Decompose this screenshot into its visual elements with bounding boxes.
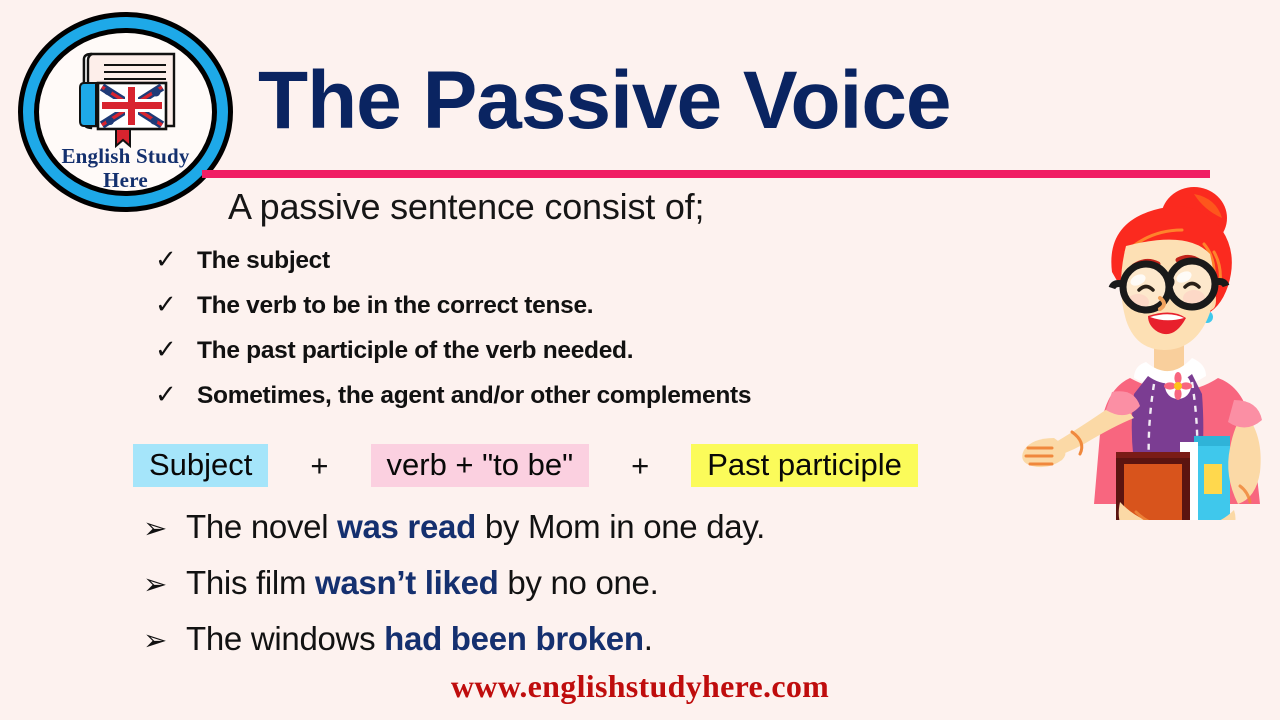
- page-title: The Passive Voice: [258, 60, 951, 142]
- plus-sign-1: +: [268, 450, 370, 481]
- formula-chip-verb-to-be: verb + "to be": [371, 444, 590, 487]
- check-icon: ✓: [155, 291, 197, 317]
- arrow-bullet-icon: ➢: [143, 515, 186, 544]
- infographic-page: English Study Here The Passive Voice A p…: [0, 0, 1280, 720]
- list-item-label: Sometimes, the agent and/or other comple…: [197, 382, 751, 410]
- list-item: ✓ Sometimes, the agent and/or other comp…: [155, 381, 1055, 426]
- check-icon: ✓: [155, 336, 197, 362]
- logo-wordmark-line1: English Study: [39, 145, 212, 169]
- list-item-label: The verb to be in the correct tense.: [197, 292, 593, 320]
- list-item: ➢ The novel was read by Mom in one day.: [143, 508, 1043, 564]
- logo-wordmark: English Study Here: [39, 145, 212, 192]
- title-underline-rule: [202, 170, 1210, 178]
- checklist: ✓ The subject ✓ The verb to be in the co…: [155, 246, 1055, 426]
- example-before: The windows: [186, 620, 384, 657]
- arrow-bullet-icon: ➢: [143, 571, 186, 600]
- list-item: ✓ The past participle of the verb needed…: [155, 336, 1055, 381]
- list-item: ➢ This film wasn’t liked by no one.: [143, 564, 1043, 620]
- examples-list: ➢ The novel was read by Mom in one day. …: [143, 508, 1043, 676]
- teacher-character-illustration: [1008, 186, 1280, 520]
- logo-wordmark-line2: Here: [39, 169, 212, 193]
- list-item: ✓ The verb to be in the correct tense.: [155, 291, 1055, 336]
- check-icon: ✓: [155, 381, 197, 407]
- example-sentence: The windows had been broken.: [186, 620, 653, 658]
- english-study-here-logo: English Study Here: [18, 12, 233, 212]
- subtitle: A passive sentence consist of;: [228, 186, 704, 228]
- formula-chip-subject: Subject: [133, 444, 268, 487]
- example-sentence: The novel was read by Mom in one day.: [186, 508, 765, 546]
- website-url: www.englishstudyhere.com: [0, 668, 1280, 705]
- list-item-label: The subject: [197, 247, 330, 275]
- example-before: The novel: [186, 508, 337, 545]
- example-verb-phrase: had been broken: [384, 620, 644, 657]
- example-after: .: [644, 620, 653, 657]
- example-after: by no one.: [498, 564, 658, 601]
- list-item: ✓ The subject: [155, 246, 1055, 291]
- list-item-label: The past participle of the verb needed.: [197, 337, 633, 365]
- example-sentence: This film wasn’t liked by no one.: [186, 564, 658, 602]
- plus-sign-2: +: [589, 450, 691, 481]
- arrow-bullet-icon: ➢: [143, 627, 186, 656]
- example-verb-phrase: wasn’t liked: [315, 564, 498, 601]
- passive-formula: Subject + verb + "to be" + Past particip…: [133, 440, 918, 490]
- example-before: This film: [186, 564, 315, 601]
- example-after: by Mom in one day.: [476, 508, 765, 545]
- formula-chip-past-participle: Past participle: [691, 444, 918, 487]
- logo-inner-disc: English Study Here: [34, 28, 217, 196]
- example-verb-phrase: was read: [337, 508, 476, 545]
- book-with-union-jack-flag-icon: [66, 51, 186, 149]
- check-icon: ✓: [155, 246, 197, 272]
